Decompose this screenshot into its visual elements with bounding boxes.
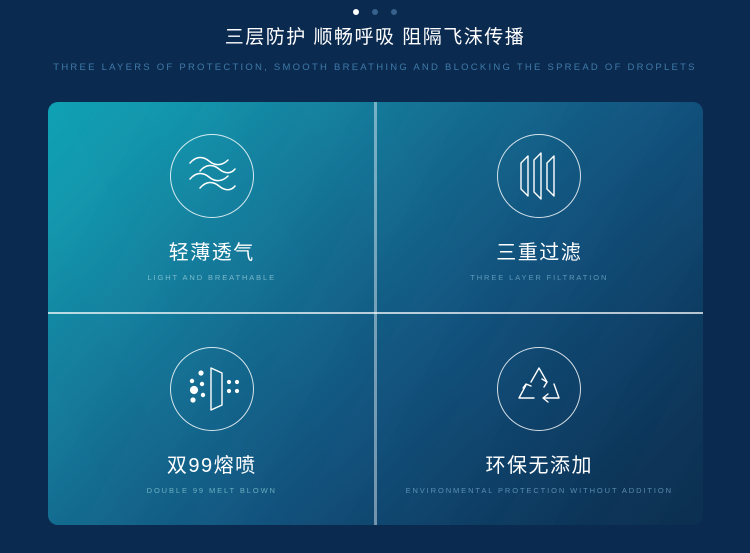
feature-label-en: THREE LAYER FILTRATION [470, 273, 608, 283]
feature-item-environmental-protection[interactable]: 环保无添加 ENVIRONMENTAL PROTECTION WITHOUT A… [376, 314, 704, 526]
feature-label-cn: 轻薄透气 [169, 240, 255, 266]
page-title: 三层防护 顺畅呼吸 阻隔飞沫传播 [0, 24, 750, 52]
feature-label-cn: 三重过滤 [496, 240, 582, 266]
carousel-dot-2[interactable] [372, 9, 378, 15]
feature-item-double-99-melt-blown[interactable]: 双99熔喷 DOUBLE 99 MELT BLOWN [48, 314, 376, 526]
promo-banner: 三层防护 顺畅呼吸 阻隔飞沫传播 THREE LAYERS OF PROTECT… [0, 0, 750, 553]
feature-panel: 轻薄透气 LIGHT AND BREATHABLE 三重过滤 THREE LAY… [48, 102, 703, 525]
page-subtitle: THREE LAYERS OF PROTECTION, SMOOTH BREAT… [0, 61, 750, 74]
carousel-dots [0, 6, 750, 18]
melt-blown-filter-icon [170, 347, 254, 431]
carousel-dot-1[interactable] [353, 9, 359, 15]
carousel-dot-3[interactable] [391, 9, 397, 15]
feature-label-cn: 双99熔喷 [167, 453, 257, 479]
feature-label-cn: 环保无添加 [486, 453, 594, 479]
waves-icon [170, 134, 254, 218]
feature-label-en: DOUBLE 99 MELT BLOWN [147, 486, 277, 496]
feature-label-en: ENVIRONMENTAL PROTECTION WITHOUT ADDITIO… [406, 486, 673, 496]
feature-grid: 轻薄透气 LIGHT AND BREATHABLE 三重过滤 THREE LAY… [48, 102, 703, 525]
feature-item-three-layer-filtration[interactable]: 三重过滤 THREE LAYER FILTRATION [376, 102, 704, 314]
recycle-icon [497, 347, 581, 431]
banner-heading-group: 三层防护 顺畅呼吸 阻隔飞沫传播 THREE LAYERS OF PROTECT… [0, 24, 750, 74]
feature-item-light-and-breathable[interactable]: 轻薄透气 LIGHT AND BREATHABLE [48, 102, 376, 314]
three-layers-icon [497, 134, 581, 218]
feature-label-en: LIGHT AND BREATHABLE [147, 273, 276, 283]
